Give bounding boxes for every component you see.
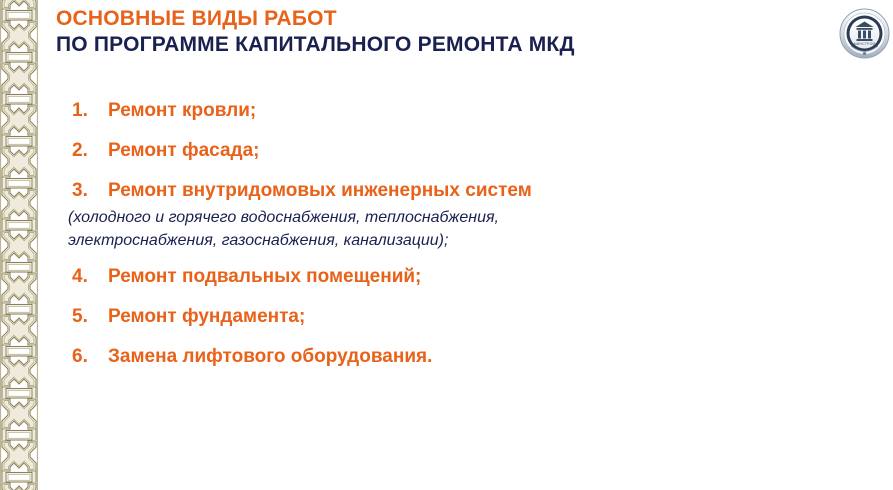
list-item-label: Ремонт внутридомовых инженерных систем <box>108 180 532 202</box>
title-line-1: ОСНОВНЫЕ ВИДЫ РАБОТ <box>56 6 816 32</box>
slide-canvas: ОСНОВНЫЕ ВИДЫ РАБОТ ПО ПРОГРАММЕ КАПИТАЛ… <box>0 0 893 490</box>
list-item-label: Замена лифтового оборудования. <box>108 346 432 368</box>
list-item-number: 3. <box>66 180 108 202</box>
list-item: 5. Ремонт фундамента; <box>66 306 856 328</box>
list-item-note-line-2: электроснабжения, газоснабжения, канализ… <box>68 229 856 252</box>
list-item-label: Ремонт фундамента; <box>108 306 305 328</box>
list-item-number: 5. <box>66 306 108 328</box>
svg-text:МИНСТРОЙ: МИНСТРОЙ <box>854 42 876 46</box>
slide-title: ОСНОВНЫЕ ВИДЫ РАБОТ ПО ПРОГРАММЕ КАПИТАЛ… <box>56 6 816 58</box>
list-item: 1. Ремонт кровли; <box>66 100 856 122</box>
works-list: 1. Ремонт кровли; 2. Ремонт фасада; 3. Р… <box>66 100 856 386</box>
list-item-label: Ремонт подвальных помещений; <box>108 266 421 288</box>
list-item: 3. Ремонт внутридомовых инженерных систе… <box>66 180 856 202</box>
list-item: 4. Ремонт подвальных помещений; <box>66 266 856 288</box>
list-item-number: 1. <box>66 100 108 122</box>
title-line-2: ПО ПРОГРАММЕ КАПИТАЛЬНОГО РЕМОНТА МКД <box>56 32 816 58</box>
list-item: 2. Ремонт фасада; <box>66 140 856 162</box>
list-item-label: Ремонт фасада; <box>108 140 260 162</box>
list-item: 6. Замена лифтового оборудования. <box>66 346 856 368</box>
list-item-note-line-1: (холодного и горячего водоснабжения, теп… <box>68 206 856 229</box>
list-item-number: 2. <box>66 140 108 162</box>
ornamental-left-border <box>0 0 38 490</box>
list-item-number: 4. <box>66 266 108 288</box>
list-item-number: 6. <box>66 346 108 368</box>
list-item-note: (холодного и горячего водоснабжения, теп… <box>66 206 856 252</box>
institution-seal-emblem: МИНСТРОЙ <box>839 8 890 59</box>
list-item-label: Ремонт кровли; <box>108 100 256 122</box>
